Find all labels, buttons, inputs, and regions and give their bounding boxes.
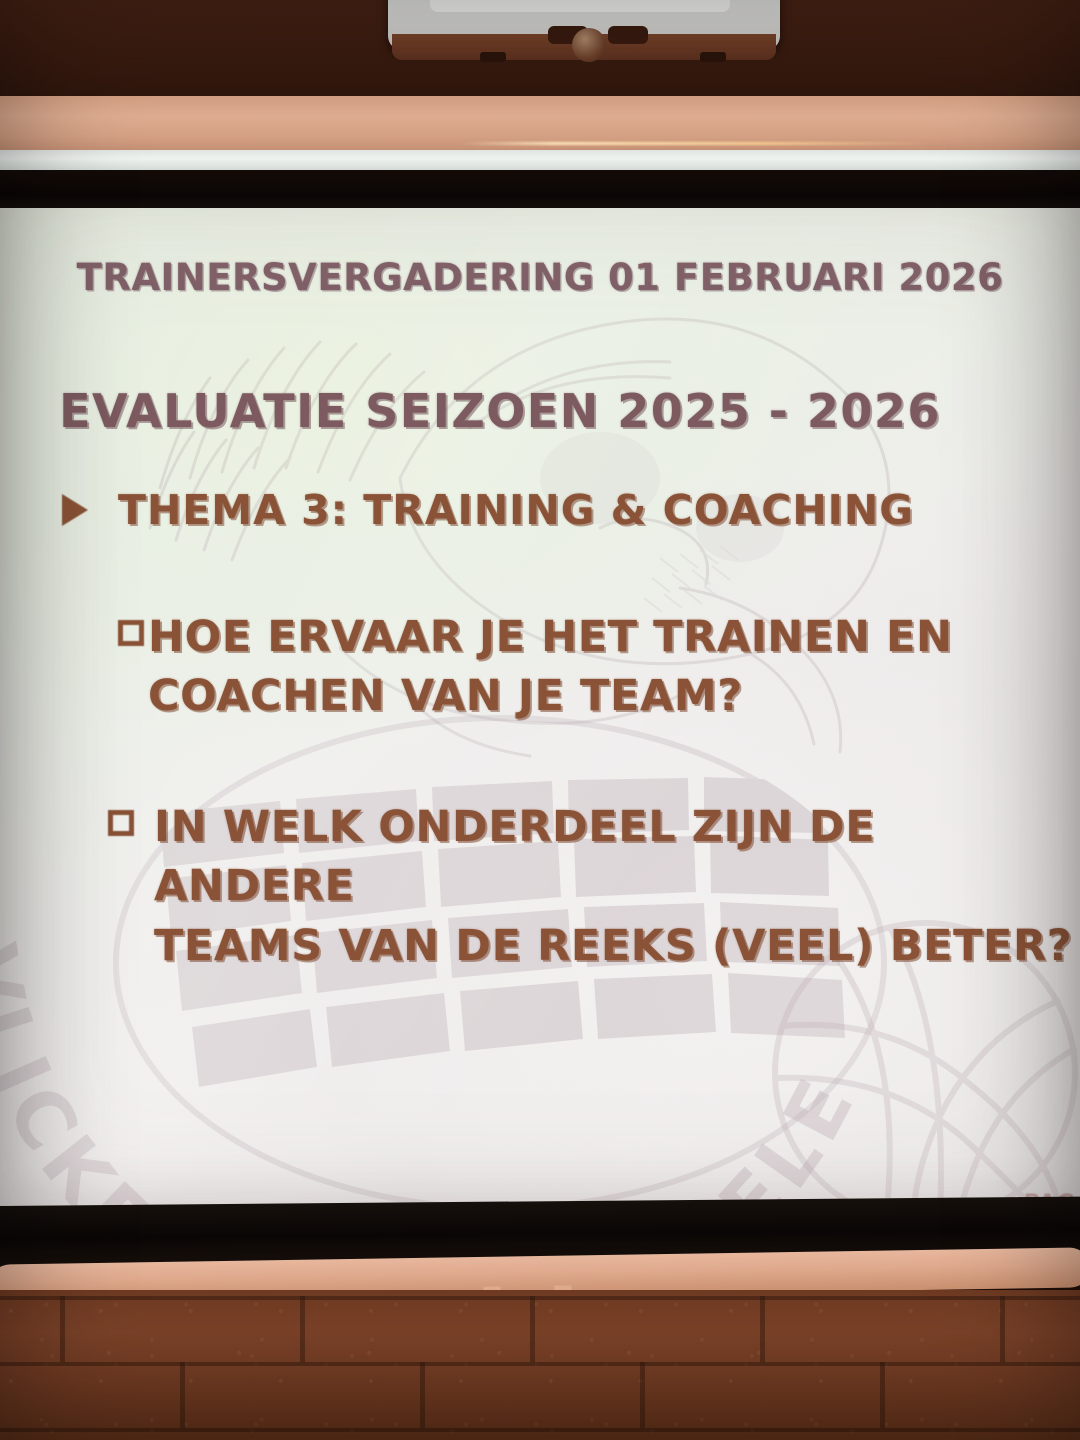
theme-label: THEMA 3: TRAINING & COACHING	[118, 486, 914, 534]
brick-wall	[0, 1290, 1080, 1440]
casing-bracket-left	[480, 52, 506, 62]
screen-top-edge	[0, 150, 1080, 172]
screen-black-border-top	[0, 170, 1080, 212]
trim-light-glint	[460, 142, 930, 145]
question-2-text: IN WELK ONDERDEEL ZIJN DE ANDERE TEAMS V…	[154, 798, 1080, 976]
casing-knob[interactable]	[572, 28, 606, 62]
square-bullet-icon	[118, 620, 144, 646]
question-1-line-1: HOE ERVAAR JE HET TRAINEN EN	[148, 612, 953, 662]
question-1-line-2: COACHEN VAN JE TEAM?	[148, 671, 743, 721]
bullet-row-theme: THEMA 3: TRAINING & COACHING	[62, 486, 914, 534]
question-1-text: HOE ERVAAR JE HET TRAINEN EN COACHEN VAN…	[148, 608, 953, 727]
slide-header: TRAINERSVERGADERING 01 FEBRUARI 2026	[0, 256, 1080, 299]
casing-vent-right	[608, 26, 648, 44]
question-block-2: IN WELK ONDERDEEL ZIJN DE ANDERE TEAMS V…	[108, 798, 1080, 976]
triangle-bullet-icon	[62, 494, 88, 526]
screen-casing-face	[430, 0, 730, 12]
slide-content: TRAINERSVERGADERING 01 FEBRUARI 2026 EVA…	[0, 208, 1080, 1210]
square-bullet-icon	[108, 810, 134, 836]
projection-screen: VLICKERLYC ZWEVEZELE TRAINERSVERGADERING…	[0, 208, 1080, 1210]
casing-bracket-right	[700, 52, 726, 62]
slide-title: EVALUATIE SEIZOEN 2025 - 2026	[0, 384, 1000, 438]
wall-trim-band	[0, 96, 1080, 154]
question-2-line-1: IN WELK ONDERDEEL ZIJN DE ANDERE	[154, 802, 875, 911]
question-2-line-2: TEAMS VAN DE REEKS (VEEL) BETER?	[154, 921, 1072, 971]
photograph-of-projected-slide: VLICKERLYC ZWEVEZELE TRAINERSVERGADERING…	[0, 0, 1080, 1440]
question-block-1: HOE ERVAAR JE HET TRAINEN EN COACHEN VAN…	[118, 608, 953, 727]
